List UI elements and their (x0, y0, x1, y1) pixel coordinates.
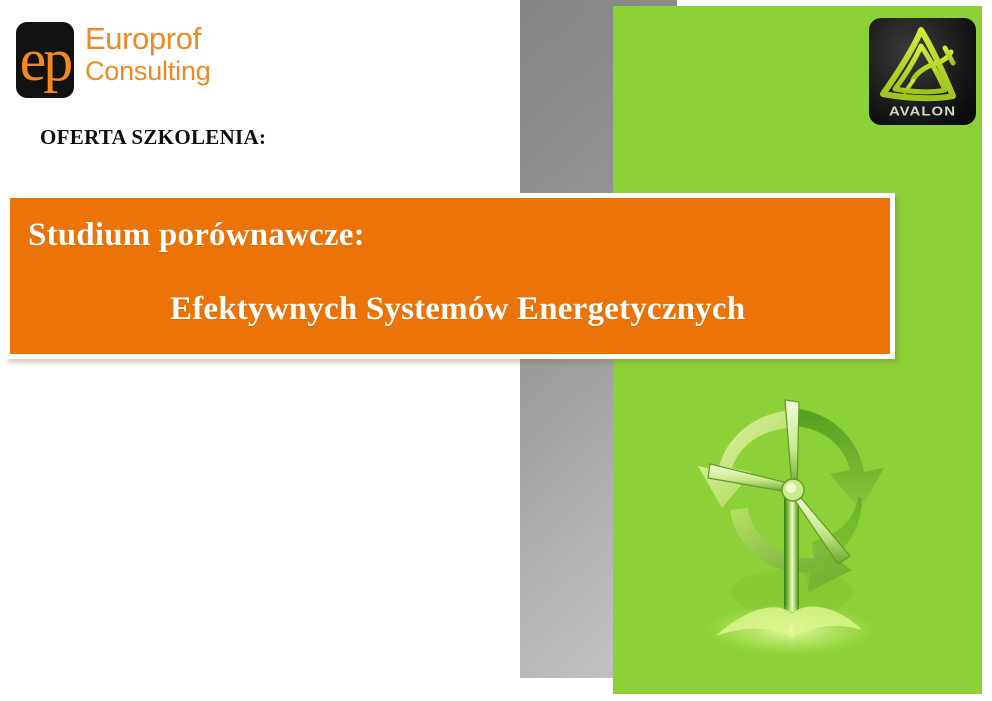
avalon-logo: AVALON (869, 18, 976, 125)
title-banner: Studium porównawcze: Efektywnych Systemó… (5, 193, 895, 359)
offer-label: OFERTA SZKOLENIA: (40, 125, 266, 150)
europrof-logo: ep Europrof Consulting (16, 22, 216, 100)
europrof-wordmark-line1: Europrof (85, 23, 211, 54)
title-banner-body: Studium porównawcze: Efektywnych Systemó… (10, 198, 890, 354)
title-line-1: Studium porównawcze: (28, 217, 365, 254)
ep-monogram-icon: ep (16, 22, 74, 98)
europrof-wordmark-line2: Consulting (85, 58, 211, 85)
avalon-wordmark: AVALON (869, 104, 976, 118)
title-line-2: Efektywnych Systemów Energetycznych (170, 291, 745, 328)
wind-turbine-recycling-icon (686, 386, 908, 654)
ep-monogram-text: ep (20, 30, 71, 90)
slide-canvas: ep Europrof Consulting AVALON OFERTA SZK… (0, 0, 992, 701)
europrof-wordmark: Europrof Consulting (85, 22, 211, 85)
